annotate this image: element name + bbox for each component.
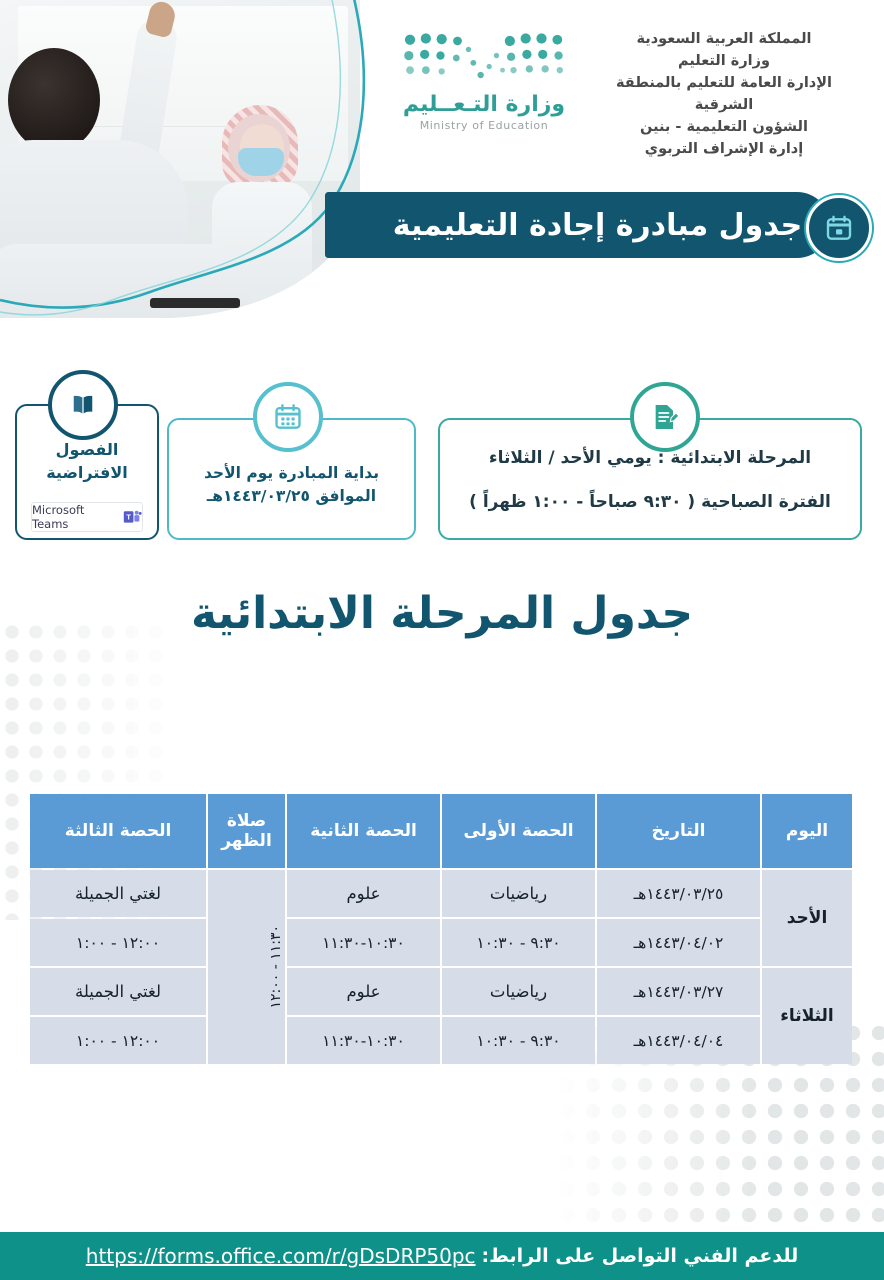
title-banner: جدول مبادرة إجادة التعليمية (325, 192, 830, 258)
org-line-2: وزارة التعليم (604, 50, 844, 72)
col-day: اليوم (762, 794, 852, 868)
svg-text:T: T (127, 512, 132, 521)
period3-cell: ١٢:٠٠ - ١:٠٠ (30, 919, 206, 966)
period2-cell: ١٠:٣٠-١١:٣٠ (287, 1017, 440, 1064)
banner-title: جدول مبادرة إجادة التعليمية (353, 208, 802, 243)
stage-line-2: الفترة الصباحية ( ٩:٣٠ صباحاً - ١:٠٠ ظهر… (440, 492, 860, 512)
stage-card: المرحلة الابتدائية : يومي الأحد / الثلاث… (438, 418, 862, 540)
org-line-1: المملكة العربية السعودية (604, 28, 844, 50)
col-period-1: الحصة الأولى (442, 794, 595, 868)
table-row: ١٤٤٣/٠٤/٠٢هـ ٩:٣٠ - ١٠:٣٠ ١٠:٣٠-١١:٣٠ ١٢… (30, 919, 852, 966)
saudi-map-dots-icon (393, 30, 576, 86)
table-header-row: اليوم التاريخ الحصة الأولى الحصة الثانية… (30, 794, 852, 868)
org-line-5: إدارة الإشراف التربوي (604, 138, 844, 160)
virtual-classes-title: الفصول الافتراضية (17, 438, 157, 484)
period3-cell: لغتي الجميلة (30, 870, 206, 917)
day-cell: الثلاثاء (762, 968, 852, 1064)
calendar-badge-icon (806, 195, 872, 261)
prayer-time-cell: ١١:٣٠ - ١٢:٠٠ (208, 870, 285, 1064)
period3-cell: لغتي الجميلة (30, 968, 206, 1015)
teams-icon: T (123, 508, 142, 526)
prayer-time-text: ١١:٣٠ - ١٢:٠٠ (268, 925, 284, 1009)
organization-block: المملكة العربية السعودية وزارة التعليم ا… (604, 28, 844, 160)
org-line-4: الشؤون التعليمية - بنين (604, 116, 844, 138)
logo-english-text: Ministry of Education (376, 119, 592, 132)
col-period-2: الحصة الثانية (287, 794, 440, 868)
calendar-icon (253, 382, 323, 452)
schedule-table: اليوم التاريخ الحصة الأولى الحصة الثانية… (28, 792, 854, 1066)
period1-cell: ٩:٣٠ - ١٠:٣٠ (442, 1017, 595, 1064)
page-title: جدول المرحلة الابتدائية (0, 588, 884, 639)
table-row: الثلاثاء ١٤٤٣/٠٣/٢٧هـ رياضيات علوم لغتي … (30, 968, 852, 1015)
document-pencil-icon (630, 382, 700, 452)
ministry-logo: وزارة التـعــليم Ministry of Education (376, 30, 592, 132)
page-header: وزارة التـعــليم Ministry of Education ا… (0, 0, 884, 330)
teams-platform-chip: T Microsoft Teams (31, 502, 143, 532)
period1-cell: رياضيات (442, 968, 595, 1015)
table-row: الأحد ١٤٤٣/٠٣/٢٥هـ رياضيات علوم ١١:٣٠ - … (30, 870, 852, 917)
support-footer: للدعم الفني التواصل على الرابط: https://… (0, 1232, 884, 1280)
col-prayer: صلاة الظهر (208, 794, 285, 868)
date-cell: ١٤٤٣/٠٣/٢٧هـ (597, 968, 760, 1015)
col-date: التاريخ (597, 794, 760, 868)
date-cell: ١٤٤٣/٠٤/٠٢هـ (597, 919, 760, 966)
period2-cell: علوم (287, 968, 440, 1015)
period2-cell: ١٠:٣٠-١١:٣٠ (287, 919, 440, 966)
period1-cell: ٩:٣٠ - ١٠:٣٠ (442, 919, 595, 966)
period1-cell: رياضيات (442, 870, 595, 917)
teams-label: Microsoft Teams (32, 503, 118, 531)
logo-arabic-text: وزارة التـعــليم (376, 94, 592, 116)
support-label: للدعم الفني التواصل على الرابط: (482, 1245, 799, 1267)
stage-line-1: المرحلة الابتدائية : يومي الأحد / الثلاث… (440, 448, 860, 468)
virtual-classes-card: الفصول الافتراضية T Microsoft Teams (15, 404, 159, 540)
date-cell: ١٤٤٣/٠٤/٠٤هـ (597, 1017, 760, 1064)
open-book-icon (48, 370, 118, 440)
table-row: ١٤٤٣/٠٤/٠٤هـ ٩:٣٠ - ١٠:٣٠ ١٠:٣٠-١١:٣٠ ١٢… (30, 1017, 852, 1064)
org-line-3: الإدارة العامة للتعليم بالمنطقة الشرقية (604, 72, 844, 116)
info-cards: المرحلة الابتدائية : يومي الأحد / الثلاث… (0, 392, 884, 552)
day-cell: الأحد (762, 870, 852, 966)
start-date-card: بداية المبادرة يوم الأحد الموافق ١٤٤٣/٠٣… (167, 418, 416, 540)
start-date-text: بداية المبادرة يوم الأحد الموافق ١٤٤٣/٠٣… (177, 462, 406, 509)
col-period-3: الحصة الثالثة (30, 794, 206, 868)
period2-cell: علوم (287, 870, 440, 917)
date-cell: ١٤٤٣/٠٣/٢٥هـ (597, 870, 760, 917)
schedule-table-wrapper: اليوم التاريخ الحصة الأولى الحصة الثانية… (32, 792, 854, 1066)
period3-cell: ١٢:٠٠ - ١:٠٠ (30, 1017, 206, 1064)
support-link[interactable]: https://forms.office.com/r/gDsDRP50pc (86, 1244, 476, 1268)
classroom-photo (0, 0, 360, 318)
